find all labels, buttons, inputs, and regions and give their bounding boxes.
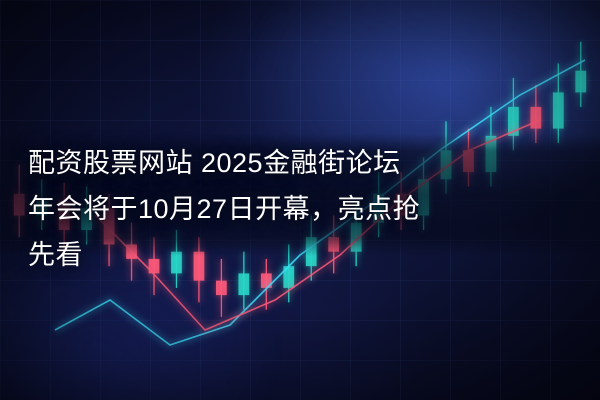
candle bbox=[463, 129, 474, 187]
candle bbox=[14, 165, 25, 237]
news-cover-image: 配资股票网站 2025金融街论坛年会将于10月27日开幕，亮点抢先看 bbox=[0, 0, 600, 400]
candle bbox=[530, 85, 541, 143]
candle bbox=[575, 42, 586, 107]
headline-text: 配资股票网站 2025金融街论坛年会将于10月27日开幕，亮点抢先看 bbox=[28, 140, 428, 278]
candle bbox=[441, 121, 452, 193]
candle bbox=[508, 78, 519, 150]
